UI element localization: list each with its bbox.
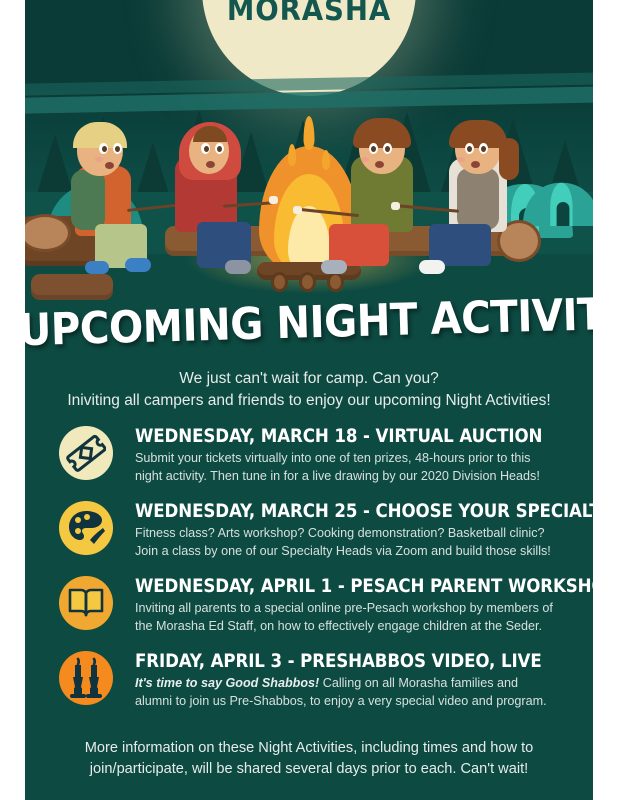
activity-badge-4 [59,651,113,705]
activity-body-line1-2: Fitness class? Arts workshop? Cooking de… [135,526,545,540]
intro-line-2: Iniviting all campers and friends to enj… [25,390,593,412]
marshmallow-3 [293,206,302,214]
activity-item-virtual-auction[interactable]: WEDNESDAY, MARCH 18 - VIRTUAL AUCTION Su… [59,424,559,497]
marshmallow-4 [391,202,400,210]
activity-heading-1: WEDNESDAY, MARCH 18 - VIRTUAL AUCTION [135,426,559,447]
activity-body-2: Fitness class? Arts workshop? Cooking de… [135,525,559,560]
camp-morasha-logo: MORASHA [209,0,409,28]
activity-body-line2-4: alumni to join us Pre-Shabbos, to enjoy … [135,694,547,708]
campfire-scene-illustration: MORASHA [25,0,593,312]
open-book-icon [64,581,108,625]
flame-spark-left [288,144,296,166]
activity-body-line2-3: the Morasha Ed Staff, on how to effectiv… [135,619,542,633]
marshmallow-2 [269,196,278,204]
activity-body-line2-2: Join a class by one of our Specialty Hea… [135,544,551,558]
page-title: UPCOMING NIGHT ACTIVITIES! [25,296,593,347]
activity-body-3: Inviting all parents to a special online… [135,600,559,635]
footer-line-2: join/participate, will be shared several… [55,759,563,780]
activity-heading-4: FRIDAY, APRIL 3 - PRESHABBOS VIDEO, LIVE [135,651,559,672]
activity-badge-2 [59,501,113,555]
activity-item-preshabbos-video[interactable]: FRIDAY, APRIL 3 - PRESHABBOS VIDEO, LIVE… [59,649,559,722]
activity-body-1: Submit your tickets virtually into one o… [135,450,559,485]
activity-text-4: FRIDAY, APRIL 3 - PRESHABBOS VIDEO, LIVE… [135,649,559,710]
intro-text: We just can't wait for camp. Can you? In… [25,368,593,412]
footer-line-1: More information on these Night Activiti… [55,738,563,759]
fire-ember-1 [271,272,288,292]
poster-canvas: MORASHA [25,0,593,800]
activity-body-4: It's time to say Good Shabbos! Calling o… [135,675,559,710]
shabbos-candles-icon [65,656,107,700]
activity-badge-1 [59,426,113,480]
activity-body-line1-1: Submit your tickets virtually into one o… [135,451,530,465]
activity-body-line1-4: Calling on all Morasha families and [319,676,518,690]
activities-list: WEDNESDAY, MARCH 18 - VIRTUAL AUCTION Su… [59,424,559,724]
page-title-text: UPCOMING NIGHT ACTIVITIES! [25,287,593,356]
activity-text-1: WEDNESDAY, MARCH 18 - VIRTUAL AUCTION Su… [135,424,559,485]
activity-badge-3 [59,576,113,630]
ticket-icon [66,433,106,473]
footer-note: More information on these Night Activiti… [25,738,593,780]
activity-item-pesach-parent-workshop[interactable]: WEDNESDAY, APRIL 1 - PESACH PARENT WORKS… [59,574,559,647]
activity-text-3: WEDNESDAY, APRIL 1 - PESACH PARENT WORKS… [135,574,559,635]
intro-line-1: We just can't wait for camp. Can you? [25,368,593,390]
activity-heading-2: WEDNESDAY, MARCH 25 - CHOOSE YOUR SPECIA… [135,501,559,522]
activity-body-line2-1: night activity. Then tune in for a live … [135,469,540,483]
fire-ember-3 [327,272,344,292]
activity-emphasis-4: It's time to say Good Shabbos! [135,676,319,690]
flame-spark-right [322,150,330,170]
logo-text: MORASHA [217,0,401,28]
paint-palette-icon [65,507,107,549]
activity-heading-3: WEDNESDAY, APRIL 1 - PESACH PARENT WORKS… [135,576,559,597]
activity-text-2: WEDNESDAY, MARCH 25 - CHOOSE YOUR SPECIA… [135,499,559,560]
activity-body-line1-3: Inviting all parents to a special online… [135,601,553,615]
ponytail-icon [499,138,519,180]
fire-ember-2 [299,272,316,292]
activity-item-choose-your-specialty[interactable]: WEDNESDAY, MARCH 25 - CHOOSE YOUR SPECIA… [59,499,559,572]
